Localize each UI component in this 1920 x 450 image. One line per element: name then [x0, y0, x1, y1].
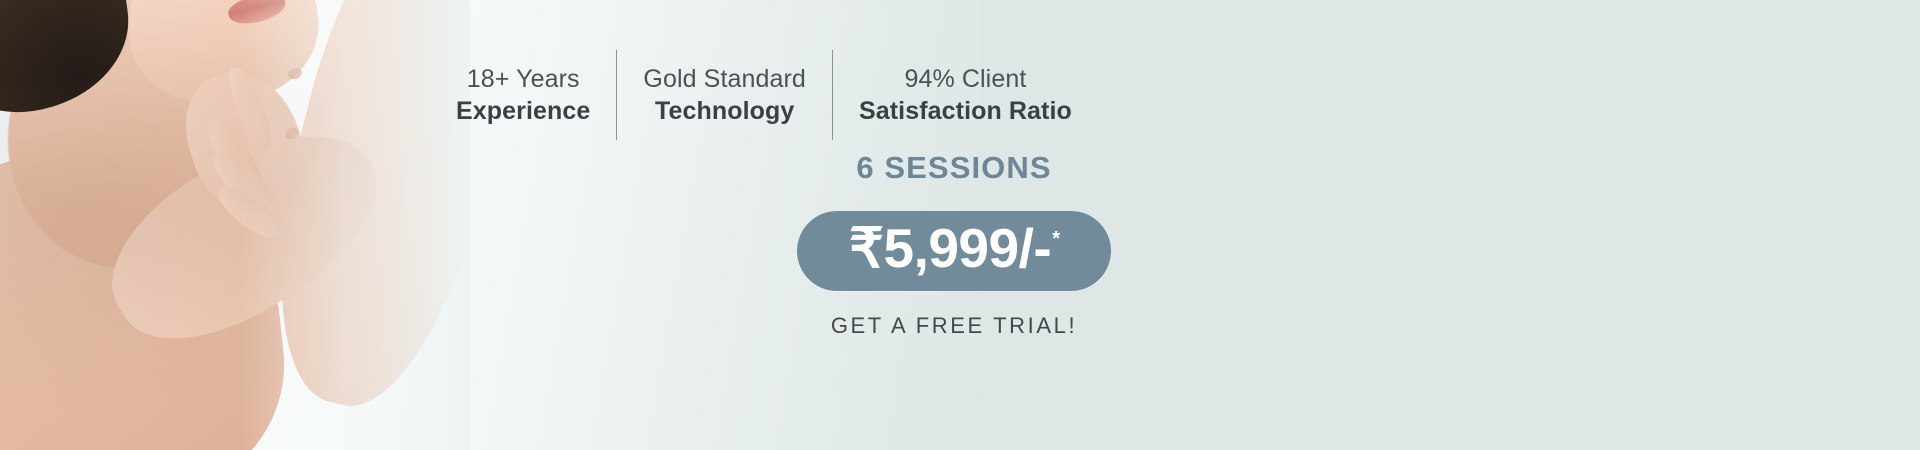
stat-divider	[616, 50, 617, 140]
free-trial-cta[interactable]: GET A FREE TRIAL!	[584, 315, 1324, 337]
price-amount: ₹5,999/-	[849, 220, 1051, 278]
stat-bottom-label: Technology	[643, 95, 806, 128]
stat-divider	[832, 50, 833, 140]
stat-satisfaction: 94% Client Satisfaction Ratio	[833, 63, 1098, 128]
stats-row: 18+ Years Experience Gold Standard Techn…	[430, 50, 1170, 140]
price-asterisk: *	[1052, 228, 1060, 250]
stat-technology: Gold Standard Technology	[617, 63, 832, 128]
stat-top-label: 18+ Years	[456, 63, 590, 95]
promo-banner: 18+ Years Experience Gold Standard Techn…	[0, 0, 1920, 450]
stat-bottom-label: Experience	[456, 95, 590, 128]
price-pill[interactable]: ₹5,999/-*	[797, 211, 1111, 291]
sessions-label: 6 SESSIONS	[584, 152, 1324, 183]
stat-bottom-label: Satisfaction Ratio	[859, 95, 1072, 128]
stat-top-label: Gold Standard	[643, 63, 806, 95]
offer-block: 6 SESSIONS ₹5,999/-* GET A FREE TRIAL!	[584, 152, 1324, 337]
stat-top-label: 94% Client	[859, 63, 1072, 95]
model-photo	[0, 0, 470, 450]
stat-experience: 18+ Years Experience	[430, 63, 616, 128]
